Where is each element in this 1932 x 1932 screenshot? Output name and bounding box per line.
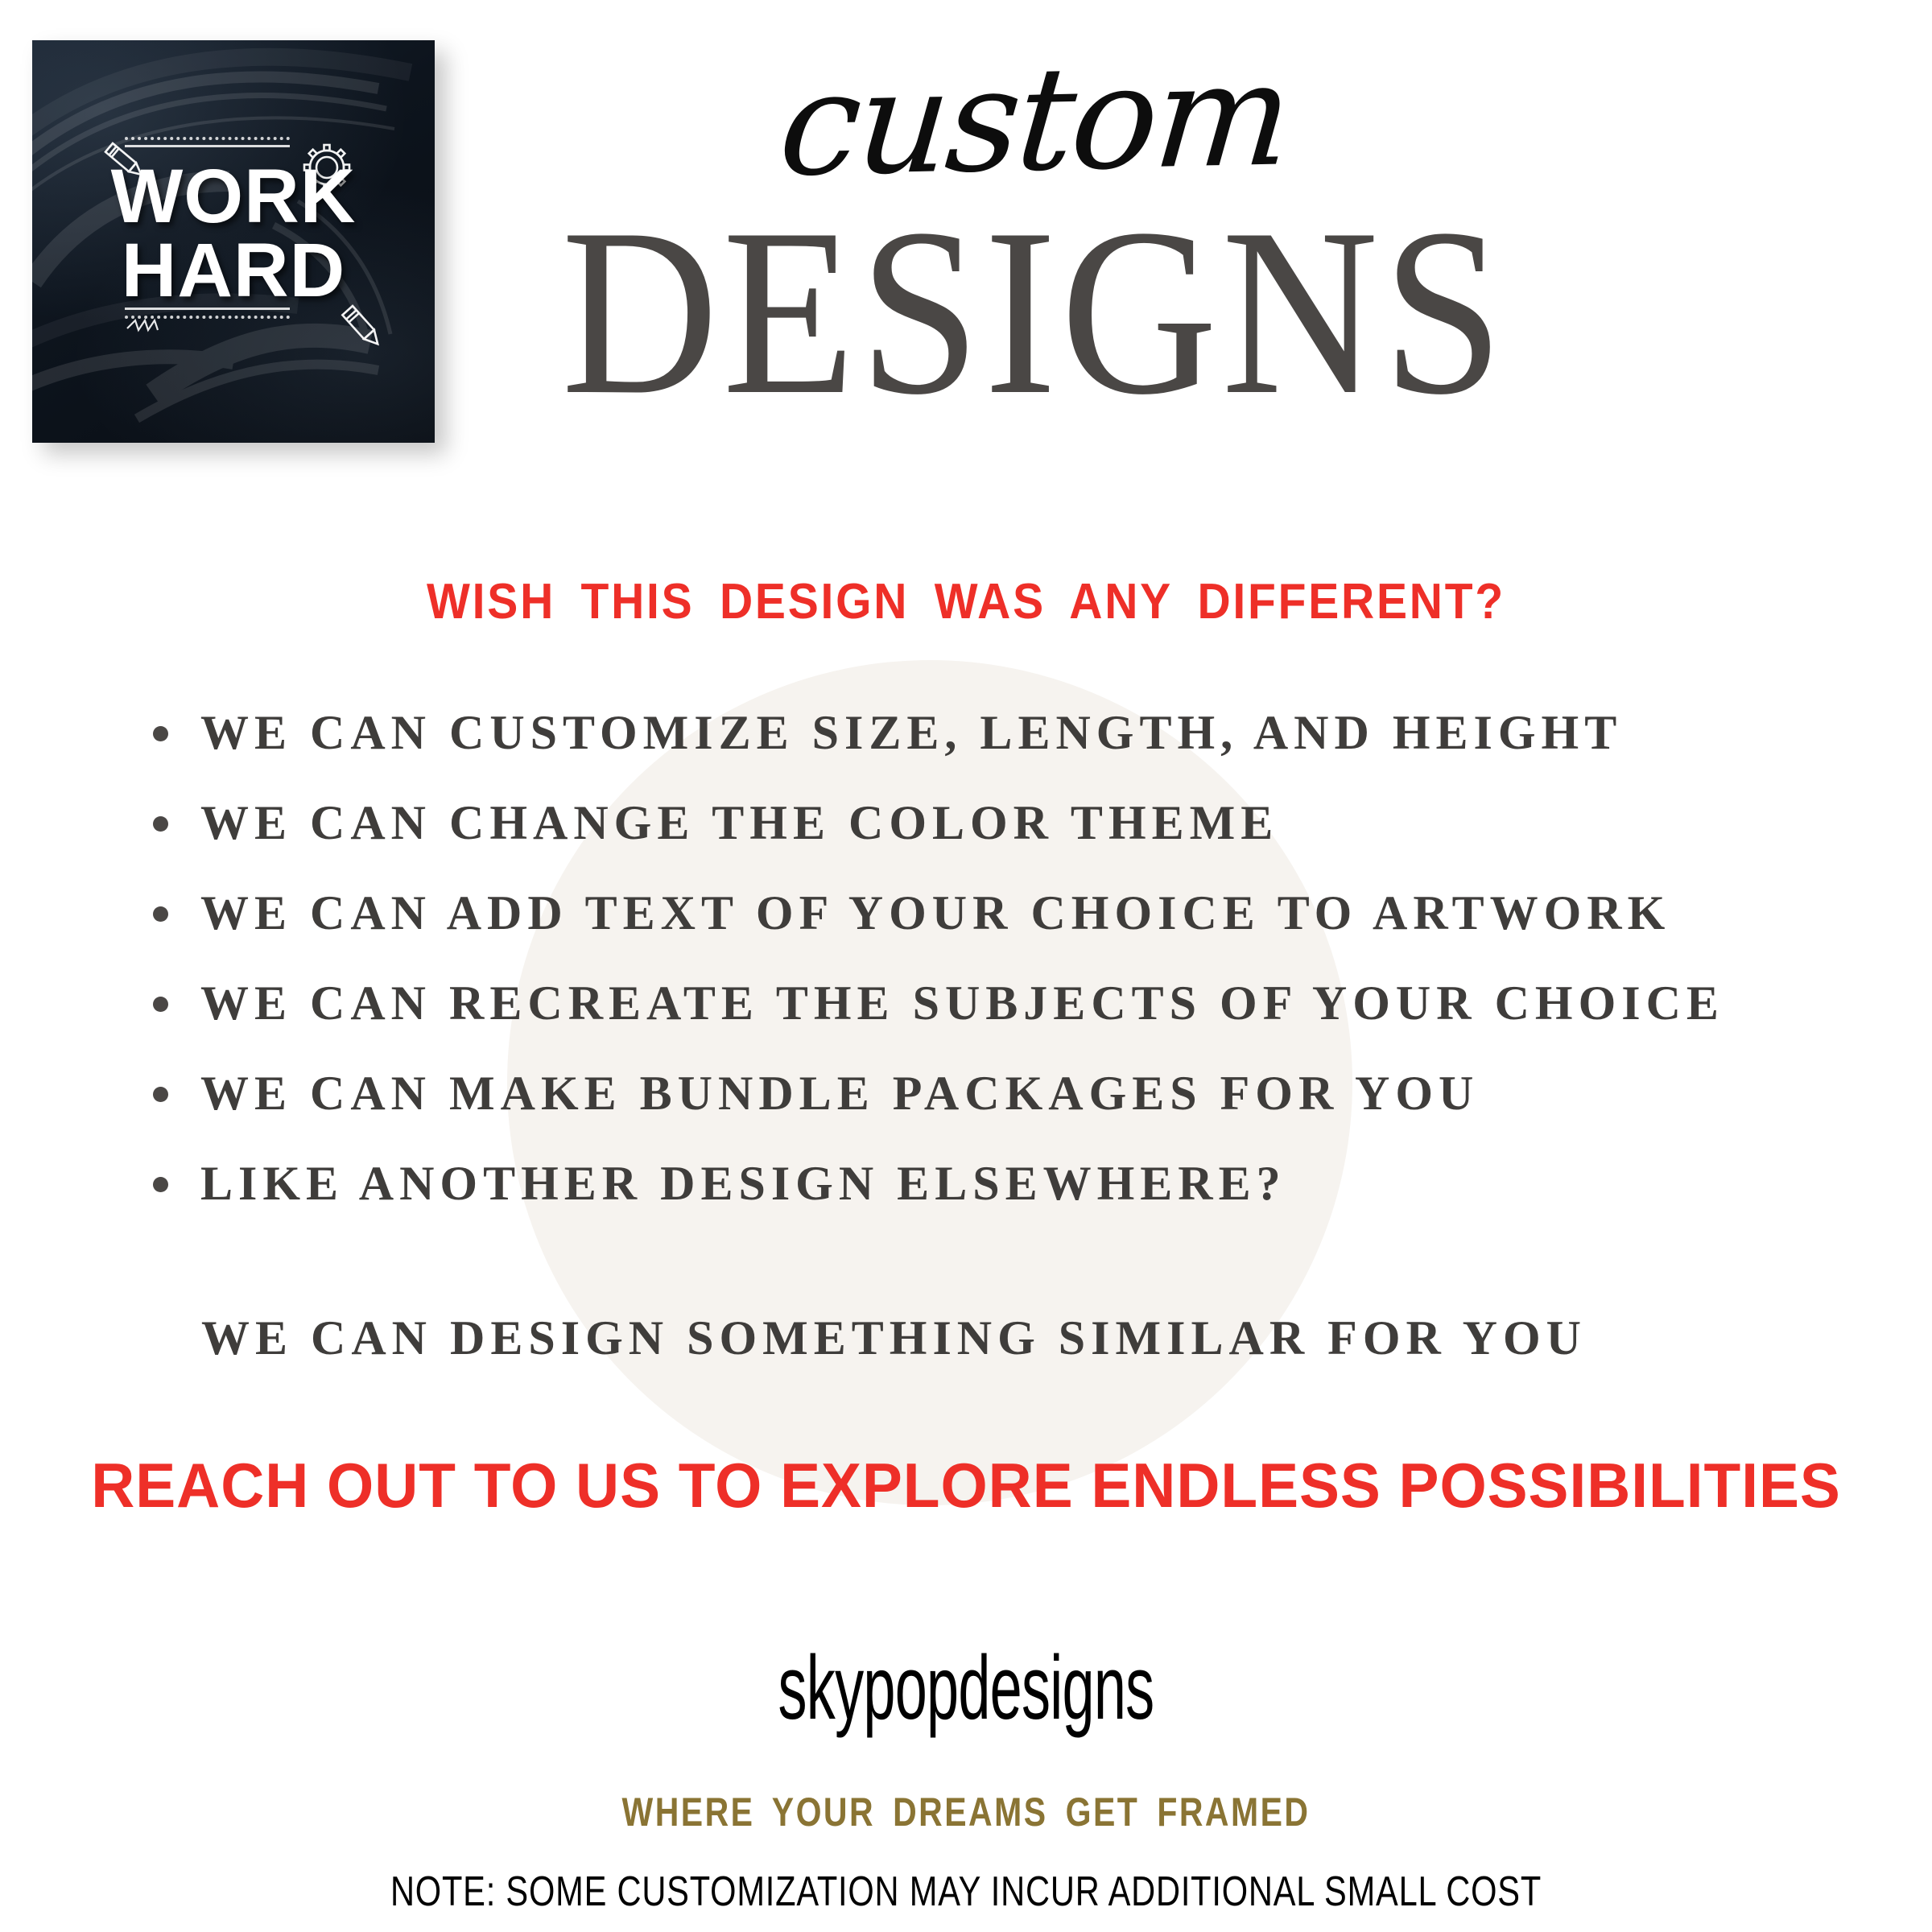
list-item-label: LIKE ANOTHER DESIGN ELSEWHERE? xyxy=(200,1159,1860,1207)
list-item-label: WE CAN CHANGE THE COLOR THEME xyxy=(200,799,1860,847)
page-title-designs: DESIGNS xyxy=(451,199,1618,426)
footer-note: NOTE: SOME CUSTOMIZATION MAY INCUR ADDIT… xyxy=(193,1868,1739,1916)
artwork-dash-bottom xyxy=(125,316,290,319)
headline-block: custom DESIGNS xyxy=(451,48,1618,416)
brand-tagline: WHERE YOUR DREAMS GET FRAMED xyxy=(174,1789,1758,1835)
list-item: WE CAN CHANGE THE COLOR THEME xyxy=(153,799,1860,847)
artwork-headline-line1: WORK xyxy=(32,159,435,233)
call-to-action-text: REACH OUT TO US TO EXPLORE ENDLESS POSSI… xyxy=(39,1449,1893,1522)
list-item: WE CAN RECREATE THE SUBJECTS OF YOUR CHO… xyxy=(153,979,1860,1027)
artwork-dash-top xyxy=(125,137,290,140)
subtitle-question: WISH THIS DESIGN WAS ANY DIFFERENT? xyxy=(77,573,1855,630)
bullet-dot-icon xyxy=(153,726,168,741)
script-title-custom: custom xyxy=(444,36,1625,204)
list-item-label: WE CAN RECREATE THE SUBJECTS OF YOUR CHO… xyxy=(200,979,1860,1027)
bullet-dot-icon xyxy=(153,1177,168,1192)
list-item: LIKE ANOTHER DESIGN ELSEWHERE? xyxy=(153,1159,1860,1207)
artwork-thumbnail[interactable]: WORK HARD xyxy=(32,40,435,443)
list-item: WE CAN MAKE BUNDLE PACKAGES FOR YOU xyxy=(153,1069,1860,1117)
list-item: WE CAN CUSTOMIZE SIZE, LENGTH, AND HEIGH… xyxy=(153,708,1860,757)
list-item-label: WE CAN CUSTOMIZE SIZE, LENGTH, AND HEIGH… xyxy=(200,708,1860,757)
brand-logo-text: skypopdesigns xyxy=(270,1637,1662,1740)
list-item-label: WE CAN MAKE BUNDLE PACKAGES FOR YOU xyxy=(200,1069,1860,1117)
list-item-continuation: WE CAN DESIGN SOMETHING SIMILAR FOR YOU xyxy=(201,1314,1587,1362)
bullet-dot-icon xyxy=(153,816,168,832)
custom-designs-poster: WORK HARD custom DESIGNS WISH THIS DESIG… xyxy=(0,0,1932,1932)
artwork-rule-bottom xyxy=(125,308,290,310)
artwork-headline-line2: HARD xyxy=(32,233,435,308)
artwork-rule-top xyxy=(125,145,290,147)
feature-list: WE CAN CUSTOMIZE SIZE, LENGTH, AND HEIGH… xyxy=(153,708,1860,1249)
list-item-label: WE CAN ADD TEXT OF YOUR CHOICE TO ARTWOR… xyxy=(200,889,1860,937)
bullet-dot-icon xyxy=(153,997,168,1012)
artwork-headline: WORK HARD xyxy=(32,159,435,308)
list-item: WE CAN ADD TEXT OF YOUR CHOICE TO ARTWOR… xyxy=(153,889,1860,937)
bullet-dot-icon xyxy=(153,906,168,922)
bullet-dot-icon xyxy=(153,1087,168,1102)
